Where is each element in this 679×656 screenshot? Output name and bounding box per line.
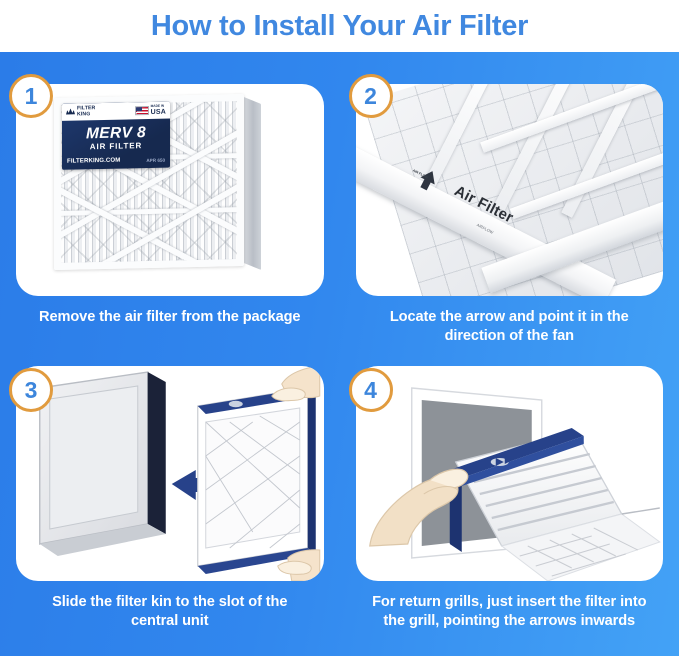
country-label: USA (151, 108, 166, 115)
return-grill-diagram-svg (356, 366, 664, 581)
illustration-air-filter-product: FILTER KING MADE IN USA (16, 84, 324, 296)
step-card-2: AIR FLOW Air Filter AIRFLOW (356, 84, 664, 296)
step-card-1: FILTER KING MADE IN USA (16, 84, 324, 296)
step-card-4 (356, 366, 664, 581)
made-in-usa-text: MADE IN USA (151, 105, 166, 116)
illustration-filter-into-return-grill (356, 366, 664, 581)
air-filter-product: FILTER KING MADE IN USA (54, 94, 244, 270)
product-label-footer: FILTERKING.COM APR 650 (67, 156, 165, 165)
filter-slot-diagram-svg (16, 366, 324, 581)
air-filter-panel (198, 388, 316, 574)
step-panel-3: 3 Slide the filter kin to the slot of th… (0, 346, 340, 656)
step-caption-1: Remove the air filter from the package (28, 308, 311, 327)
step-number-2: 2 (364, 85, 377, 108)
filter-side-edge (241, 96, 261, 270)
brand-line-2: KING (77, 111, 90, 117)
step-number-4: 4 (364, 379, 377, 402)
product-label: FILTER KING MADE IN USA (62, 102, 170, 170)
illustration-filter-corner-closeup: AIR FLOW Air Filter AIRFLOW (356, 84, 664, 296)
website-label: FILTERKING.COM (67, 157, 120, 165)
step-number-1: 1 (25, 85, 38, 108)
made-in-usa-badge: MADE IN USA (135, 105, 166, 116)
brand-logo: FILTER KING (66, 106, 95, 117)
central-unit-slot (40, 372, 166, 556)
step-card-3 (16, 366, 324, 581)
hand-top (272, 366, 320, 401)
usa-flag-icon (135, 106, 149, 115)
product-label-header: FILTER KING MADE IN USA (62, 102, 170, 121)
step-caption-2: Locate the arrow and point it in the dir… (368, 308, 651, 347)
step-badge-4: 4 (349, 368, 393, 412)
step-panel-1: FILTER KING MADE IN USA (0, 52, 340, 346)
step-badge-3: 3 (9, 368, 53, 412)
page-title: How to Install Your Air Filter (151, 10, 528, 43)
step-panel-4: 4 For return grills, just insert the fil… (340, 346, 679, 656)
step-caption-3: Slide the filter kin to the slot of the … (28, 593, 311, 632)
infographic-page: How to Install Your Air Filter (0, 0, 679, 656)
step-caption-4: For return grills, just insert the filte… (368, 593, 651, 632)
brand-name: FILTER KING (77, 106, 95, 117)
step-number-3: 3 (25, 379, 38, 402)
filter-type-label: AIR FILTER (62, 141, 170, 152)
step-badge-1: 1 (9, 74, 53, 118)
apr-rating-label: APR 650 (146, 158, 165, 163)
illustration-filter-into-unit (16, 366, 324, 581)
step-panel-2: AIR FLOW Air Filter AIRFLOW 2 Locate the… (340, 52, 679, 346)
header: How to Install Your Air Filter (0, 0, 679, 52)
step-badge-2: 2 (349, 74, 393, 118)
crown-icon (66, 108, 75, 117)
steps-grid: FILTER KING MADE IN USA (0, 52, 679, 656)
